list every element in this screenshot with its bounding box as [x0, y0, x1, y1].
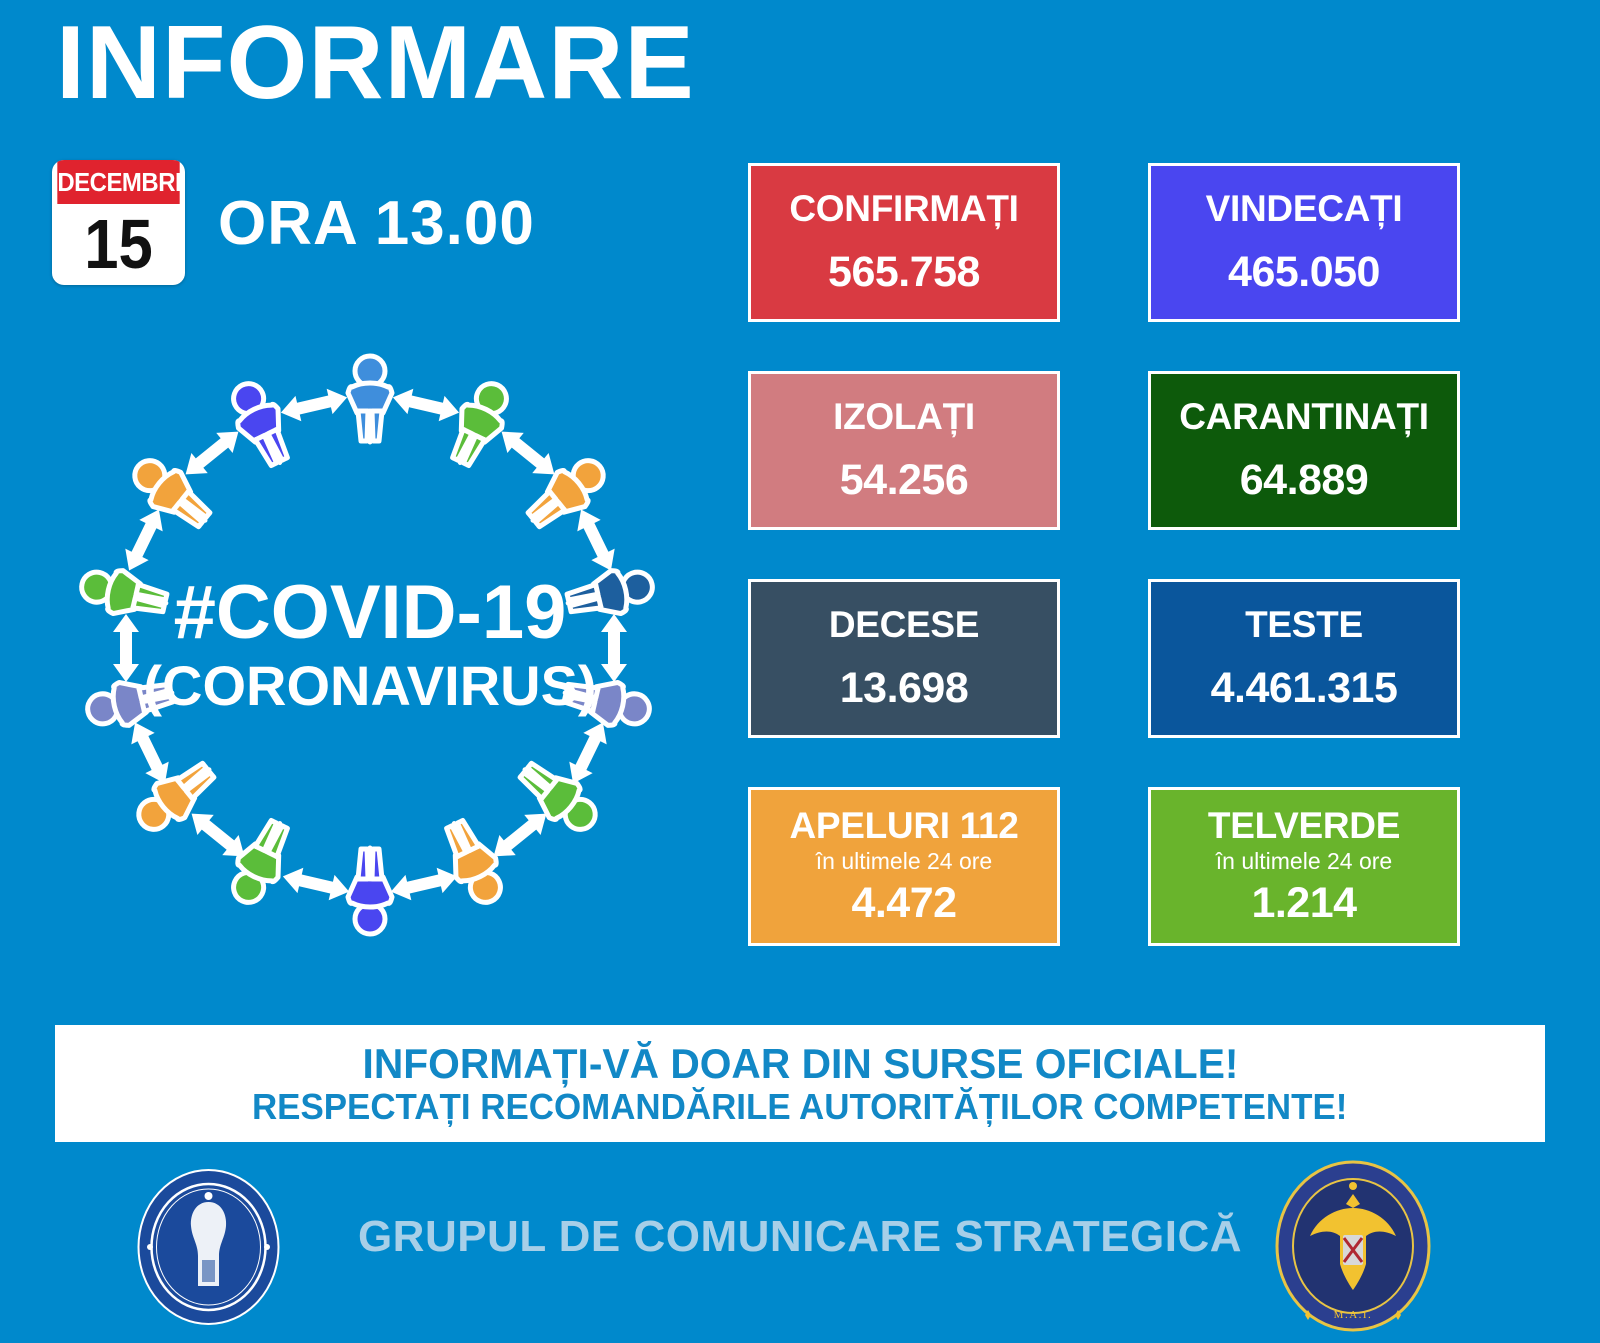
page-title: INFORMARE — [56, 6, 695, 120]
advisory-line-2: RESPECTAȚI RECOMANDĂRILE AUTORITĂȚILOR C… — [252, 1087, 1347, 1127]
stat-label: APELURI 112 — [789, 807, 1018, 846]
stat-card-telverde: TELVERDE în ultimele 24 ore 1.214 — [1148, 787, 1460, 946]
social-distancing-circle-icon — [60, 335, 680, 955]
report-hour-label: ORA 13.00 — [218, 188, 535, 259]
stat-label: DECESE — [829, 606, 979, 645]
stat-label: IZOLAȚI — [833, 398, 975, 437]
calendar-icon: DECEMBRIE 15 — [52, 160, 185, 285]
stat-value: 565.758 — [828, 250, 980, 295]
stat-value: 13.698 — [840, 666, 969, 711]
stat-value: 1.214 — [1251, 881, 1356, 926]
stat-card-apeluri-112: APELURI 112 în ultimele 24 ore 4.472 — [748, 787, 1060, 946]
stat-label: TESTE — [1245, 606, 1363, 645]
covid-information-poster: INFORMARE DECEMBRIE 15 ORA 13.00 — [0, 0, 1600, 1343]
stat-label: CONFIRMAȚI — [789, 190, 1018, 229]
stat-label: CARANTINAȚI — [1179, 398, 1429, 437]
stat-value: 4.461.315 — [1211, 666, 1398, 711]
dsu-mai-seal-icon: M.A.I. — [1274, 1160, 1432, 1332]
stat-value: 54.256 — [840, 458, 969, 503]
calendar-day-label: 15 — [60, 204, 177, 285]
stat-card-decese: DECESE 13.698 — [748, 579, 1060, 738]
stat-card-carantinati: CARANTINAȚI 64.889 — [1148, 371, 1460, 530]
stat-label: TELVERDE — [1208, 807, 1400, 846]
stat-card-teste: TESTE 4.461.315 — [1148, 579, 1460, 738]
stat-sublabel: în ultimele 24 ore — [1216, 848, 1392, 874]
stat-sublabel: în ultimele 24 ore — [816, 848, 992, 874]
advisory-banner: INFORMAȚI-VĂ DOAR DIN SURSE OFICIALE! RE… — [55, 1025, 1545, 1142]
stat-value: 64.889 — [1240, 458, 1369, 503]
stat-card-vindecati: VINDECAȚI 465.050 — [1148, 163, 1460, 322]
stat-card-confirmati: CONFIRMAȚI 565.758 — [748, 163, 1060, 322]
stat-label: VINDECAȚI — [1206, 190, 1403, 229]
svg-text:M.A.I.: M.A.I. — [1334, 1309, 1373, 1321]
calendar-month-label: DECEMBRIE — [57, 160, 179, 204]
stats-grid: CONFIRMAȚI 565.758 VINDECAȚI 465.050 IZO… — [748, 163, 1460, 946]
stat-value: 465.050 — [1228, 250, 1380, 295]
advisory-line-1: INFORMAȚI-VĂ DOAR DIN SURSE OFICIALE! — [362, 1040, 1238, 1087]
stat-value: 4.472 — [851, 881, 956, 926]
stat-card-izolati: IZOLAȚI 54.256 — [748, 371, 1060, 530]
